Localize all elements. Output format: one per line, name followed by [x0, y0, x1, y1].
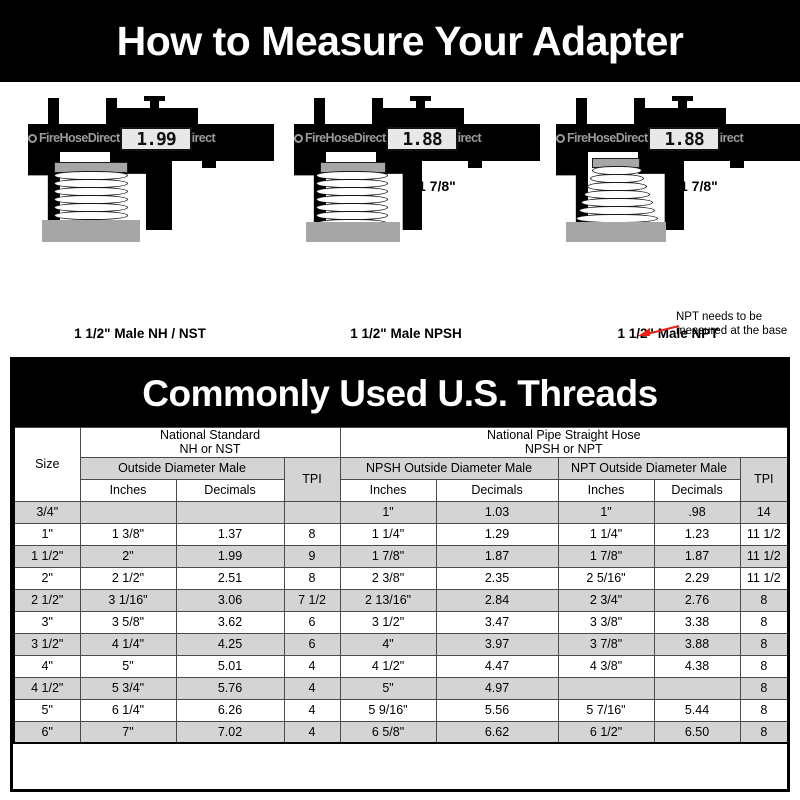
cell-npt_tpi: 8	[740, 611, 788, 633]
cell-npt_dec: 1.23	[654, 523, 740, 545]
cell-nh_dec: 5.01	[176, 655, 284, 677]
header-size: Size	[14, 428, 80, 502]
cell-nh_tpi: 9	[284, 545, 340, 567]
threads-table: Size National Standard NH or NST Nationa…	[13, 427, 789, 744]
cell-npt_tpi: 8	[740, 655, 788, 677]
cell-nh_in: 7"	[80, 721, 176, 743]
cell-size: 3/4"	[14, 501, 80, 523]
cell-size: 3"	[14, 611, 80, 633]
header-group-pipe-straight: National Pipe Straight Hose NPSH or NPT	[340, 428, 788, 458]
page-title: How to Measure Your Adapter	[117, 18, 684, 65]
cell-npt_dec: 1.87	[654, 545, 740, 567]
caliper-lower-rail	[156, 152, 274, 161]
table-title: Commonly Used U.S. Threads	[142, 373, 657, 415]
cell-npt_tpi: 8	[740, 721, 788, 743]
cell-npsh_dec: 3.47	[436, 611, 558, 633]
cell-nh_tpi: 6	[284, 611, 340, 633]
fitting-base	[566, 222, 666, 242]
cell-nh_tpi: 8	[284, 523, 340, 545]
header-nh-od: Outside Diameter Male	[80, 457, 284, 479]
cell-npt_dec: 3.38	[654, 611, 740, 633]
cell-nh_dec: 2.51	[176, 567, 284, 589]
watermark-text: FireHoseDirect	[39, 131, 120, 145]
table-row: 3 1/2"4 1/4"4.2564"3.973 7/8"3.888	[14, 633, 788, 655]
header-npt-od: NPT Outside Diameter Male	[558, 457, 740, 479]
table-row: 1 1/2"2"1.9991 7/8"1.871 7/8"1.8711 1/2	[14, 545, 788, 567]
cell-npt_dec	[654, 677, 740, 699]
cell-nh_dec: 3.06	[176, 589, 284, 611]
cell-npt_dec: 6.50	[654, 721, 740, 743]
caliper-lcd-display: 1.88	[648, 127, 720, 151]
cell-size: 5"	[14, 699, 80, 721]
header-ps-line1: National Pipe Straight Hose	[341, 428, 788, 442]
cell-npt_in: 2 5/16"	[558, 567, 654, 589]
caliper-diagram-npsh: FireHoseDirect FireHoseDirect 1.88 1 7/8…	[272, 82, 540, 352]
cell-nh_tpi: 7 1/2	[284, 589, 340, 611]
caliper-lower-rail	[684, 152, 800, 161]
cell-npt_dec: 3.88	[654, 633, 740, 655]
cell-nh_dec: 5.76	[176, 677, 284, 699]
diagram-caption: 1 1/2" Male NH / NST	[6, 326, 274, 341]
cell-nh_dec: 3.62	[176, 611, 284, 633]
cell-npt_dec: 4.38	[654, 655, 740, 677]
caliper-rail-nub	[202, 161, 216, 168]
cell-nh_tpi: 4	[284, 677, 340, 699]
fitting-base	[42, 220, 140, 242]
cell-size: 4"	[14, 655, 80, 677]
table-row: 6"7"7.0246 5/8"6.626 1/2"6.508	[14, 721, 788, 743]
header-npsh-od: NPSH Outside Diameter Male	[340, 457, 558, 479]
cell-npt_dec: 5.44	[654, 699, 740, 721]
table-row: 2"2 1/2"2.5182 3/8"2.352 5/16"2.2911 1/2	[14, 567, 788, 589]
flame-logo-icon	[556, 134, 565, 143]
cell-npsh_in: 2 13/16"	[340, 589, 436, 611]
cell-nh_tpi: 4	[284, 655, 340, 677]
cell-npt_in: 6 1/2"	[558, 721, 654, 743]
cell-npsh_in: 6 5/8"	[340, 721, 436, 743]
cell-nh_tpi	[284, 501, 340, 523]
table-row: 4"5"5.0144 1/2"4.474 3/8"4.388	[14, 655, 788, 677]
cell-npsh_in: 1 1/4"	[340, 523, 436, 545]
cell-nh_tpi: 4	[284, 699, 340, 721]
cell-npsh_dec: 2.84	[436, 589, 558, 611]
cell-nh_tpi: 4	[284, 721, 340, 743]
cell-nh_in: 3 5/8"	[80, 611, 176, 633]
header-npsh-inches: Inches	[340, 479, 436, 501]
cell-npt_in: 1"	[558, 501, 654, 523]
caliper-lcd-value: 1.88	[402, 129, 441, 150]
cell-npsh_dec: 1.29	[436, 523, 558, 545]
cell-nh_in: 4 1/4"	[80, 633, 176, 655]
watermark-text: FireHoseDirect	[567, 131, 648, 145]
cell-npsh_in: 1"	[340, 501, 436, 523]
table-row: 3/4"1"1.031".9814	[14, 501, 788, 523]
header-banner: How to Measure Your Adapter	[0, 0, 800, 82]
cell-npt_dec: 2.76	[654, 589, 740, 611]
dimension-label: 1 7/8"	[680, 178, 718, 194]
cell-nh_dec: 1.37	[176, 523, 284, 545]
dimension-label: 1 7/8"	[418, 178, 456, 194]
cell-size: 4 1/2"	[14, 677, 80, 699]
cell-size: 2"	[14, 567, 80, 589]
header-nh-inches: Inches	[80, 479, 176, 501]
caliper-lower-rail	[422, 152, 540, 161]
cell-npsh_dec: 5.56	[436, 699, 558, 721]
cell-npt_tpi: 8	[740, 633, 788, 655]
caliper-lcd-value: 1.99	[136, 129, 175, 150]
cell-npt_in	[558, 677, 654, 699]
table-row: 2 1/2"3 1/16"3.067 1/22 13/16"2.842 3/4"…	[14, 589, 788, 611]
cell-npsh_in: 1 7/8"	[340, 545, 436, 567]
cell-nh_in: 2"	[80, 545, 176, 567]
cell-npt_in: 1 7/8"	[558, 545, 654, 567]
cell-nh_dec: 6.26	[176, 699, 284, 721]
npt-note-line-1: NPT needs to be	[676, 310, 787, 324]
cell-npt_tpi: 11 1/2	[740, 567, 788, 589]
cell-nh_in	[80, 501, 176, 523]
npt-callout-note: NPT needs to be measured at the base	[676, 310, 787, 339]
caliper-rail-nub	[468, 161, 482, 168]
cell-npsh_dec: 1.03	[436, 501, 558, 523]
diagram-band: FireHoseDirect	[0, 82, 800, 352]
caliper-diagram-nh-nst: FireHoseDirect FireHoseDirect 1.99 2" 1 …	[6, 82, 274, 352]
cell-size: 1"	[14, 523, 80, 545]
table-row: 1"1 3/8"1.3781 1/4"1.291 1/4"1.2311 1/2	[14, 523, 788, 545]
caliper-drawing: FireHoseDirect FireHoseDirect 1.88 1 7/8…	[534, 82, 800, 272]
cell-nh_in: 5 3/4"	[80, 677, 176, 699]
header-nh-decimals: Decimals	[176, 479, 284, 501]
cell-nh_in: 6 1/4"	[80, 699, 176, 721]
header-ns-line1: National Standard	[81, 428, 340, 442]
cell-nh_in: 2 1/2"	[80, 567, 176, 589]
cell-npsh_in: 4 1/2"	[340, 655, 436, 677]
npt-note-line-2: measured at the base	[676, 324, 787, 338]
cell-nh_in: 3 1/16"	[80, 589, 176, 611]
cell-nh_tpi: 8	[284, 567, 340, 589]
cell-size: 3 1/2"	[14, 633, 80, 655]
cell-npt_tpi: 11 1/2	[740, 523, 788, 545]
cell-npsh_in: 3 1/2"	[340, 611, 436, 633]
thread-rings	[576, 166, 660, 228]
cell-nh_dec: 1.99	[176, 545, 284, 567]
cell-npsh_dec: 4.47	[436, 655, 558, 677]
header-npsh-decimals: Decimals	[436, 479, 558, 501]
cell-npt_dec: .98	[654, 501, 740, 523]
header-npt-inches: Inches	[558, 479, 654, 501]
cell-npsh_dec: 4.97	[436, 677, 558, 699]
threads-table-body: 3/4"1"1.031".98141"1 3/8"1.3781 1/4"1.29…	[14, 501, 788, 743]
diagram-caption: 1 1/2" Male NPSH	[272, 326, 540, 341]
dimension-label: 2"	[158, 178, 172, 194]
header-ps-line2: NPSH or NPT	[341, 442, 788, 456]
cell-npsh_dec: 2.35	[436, 567, 558, 589]
cell-npt_in: 5 7/16"	[558, 699, 654, 721]
header-group-national-standard: National Standard NH or NST	[80, 428, 340, 458]
header-npt-tpi: TPI	[740, 457, 788, 501]
cell-npsh_dec: 6.62	[436, 721, 558, 743]
cell-npt_tpi: 8	[740, 677, 788, 699]
cell-npsh_dec: 3.97	[436, 633, 558, 655]
flame-logo-icon	[294, 134, 303, 143]
header-ns-line2: NH or NST	[81, 442, 340, 456]
cell-nh_in: 5"	[80, 655, 176, 677]
header-npt-decimals: Decimals	[654, 479, 740, 501]
cell-npsh_in: 5"	[340, 677, 436, 699]
poster-root: How to Measure Your Adapter FireHoseDire…	[0, 0, 800, 800]
table-row: 4 1/2"5 3/4"5.7645"4.978	[14, 677, 788, 699]
cell-npsh_dec: 1.87	[436, 545, 558, 567]
cell-size: 1 1/2"	[14, 545, 80, 567]
cell-size: 6"	[14, 721, 80, 743]
caliper-thumb-wheel	[678, 98, 687, 110]
cell-npsh_in: 4"	[340, 633, 436, 655]
table-title-banner: Commonly Used U.S. Threads	[13, 360, 787, 427]
threads-table-block: Commonly Used U.S. Threads Size National…	[10, 357, 790, 792]
caliper-lcd-display: 1.99	[120, 127, 192, 151]
npt-callout-arrow-icon	[638, 322, 680, 338]
cell-npt_in: 3 7/8"	[558, 633, 654, 655]
cell-nh_dec: 7.02	[176, 721, 284, 743]
cell-npt_tpi: 8	[740, 589, 788, 611]
caliper-rail-nub	[730, 161, 744, 168]
fitting-base	[306, 222, 400, 242]
cell-nh_in: 1 3/8"	[80, 523, 176, 545]
caliper-drawing: FireHoseDirect FireHoseDirect 1.99 2"	[6, 82, 274, 272]
header-nh-tpi: TPI	[284, 457, 340, 501]
cell-npsh_in: 2 3/8"	[340, 567, 436, 589]
caliper-drawing: FireHoseDirect FireHoseDirect 1.88 1 7/8…	[272, 82, 540, 272]
table-row: 3"3 5/8"3.6263 1/2"3.473 3/8"3.388	[14, 611, 788, 633]
cell-npsh_in: 5 9/16"	[340, 699, 436, 721]
caliper-lcd-display: 1.88	[386, 127, 458, 151]
cell-nh_dec	[176, 501, 284, 523]
caliper-lcd-value: 1.88	[664, 129, 703, 150]
cell-npt_tpi: 11 1/2	[740, 545, 788, 567]
cell-npt_in: 2 3/4"	[558, 589, 654, 611]
cell-npt_tpi: 14	[740, 501, 788, 523]
cell-size: 2 1/2"	[14, 589, 80, 611]
caliper-thumb-wheel	[416, 98, 425, 110]
thread-rings	[316, 171, 390, 227]
cell-nh_dec: 4.25	[176, 633, 284, 655]
cell-npt_in: 4 3/8"	[558, 655, 654, 677]
cell-nh_tpi: 6	[284, 633, 340, 655]
cell-npt_in: 3 3/8"	[558, 611, 654, 633]
cell-npt_in: 1 1/4"	[558, 523, 654, 545]
table-row: 5"6 1/4"6.2645 9/16"5.565 7/16"5.448	[14, 699, 788, 721]
cell-npt_dec: 2.29	[654, 567, 740, 589]
flame-logo-icon	[28, 134, 37, 143]
caliper-thumb-wheel	[150, 98, 159, 110]
cell-npt_tpi: 8	[740, 699, 788, 721]
watermark-text: FireHoseDirect	[305, 131, 386, 145]
thread-rings	[54, 171, 128, 223]
